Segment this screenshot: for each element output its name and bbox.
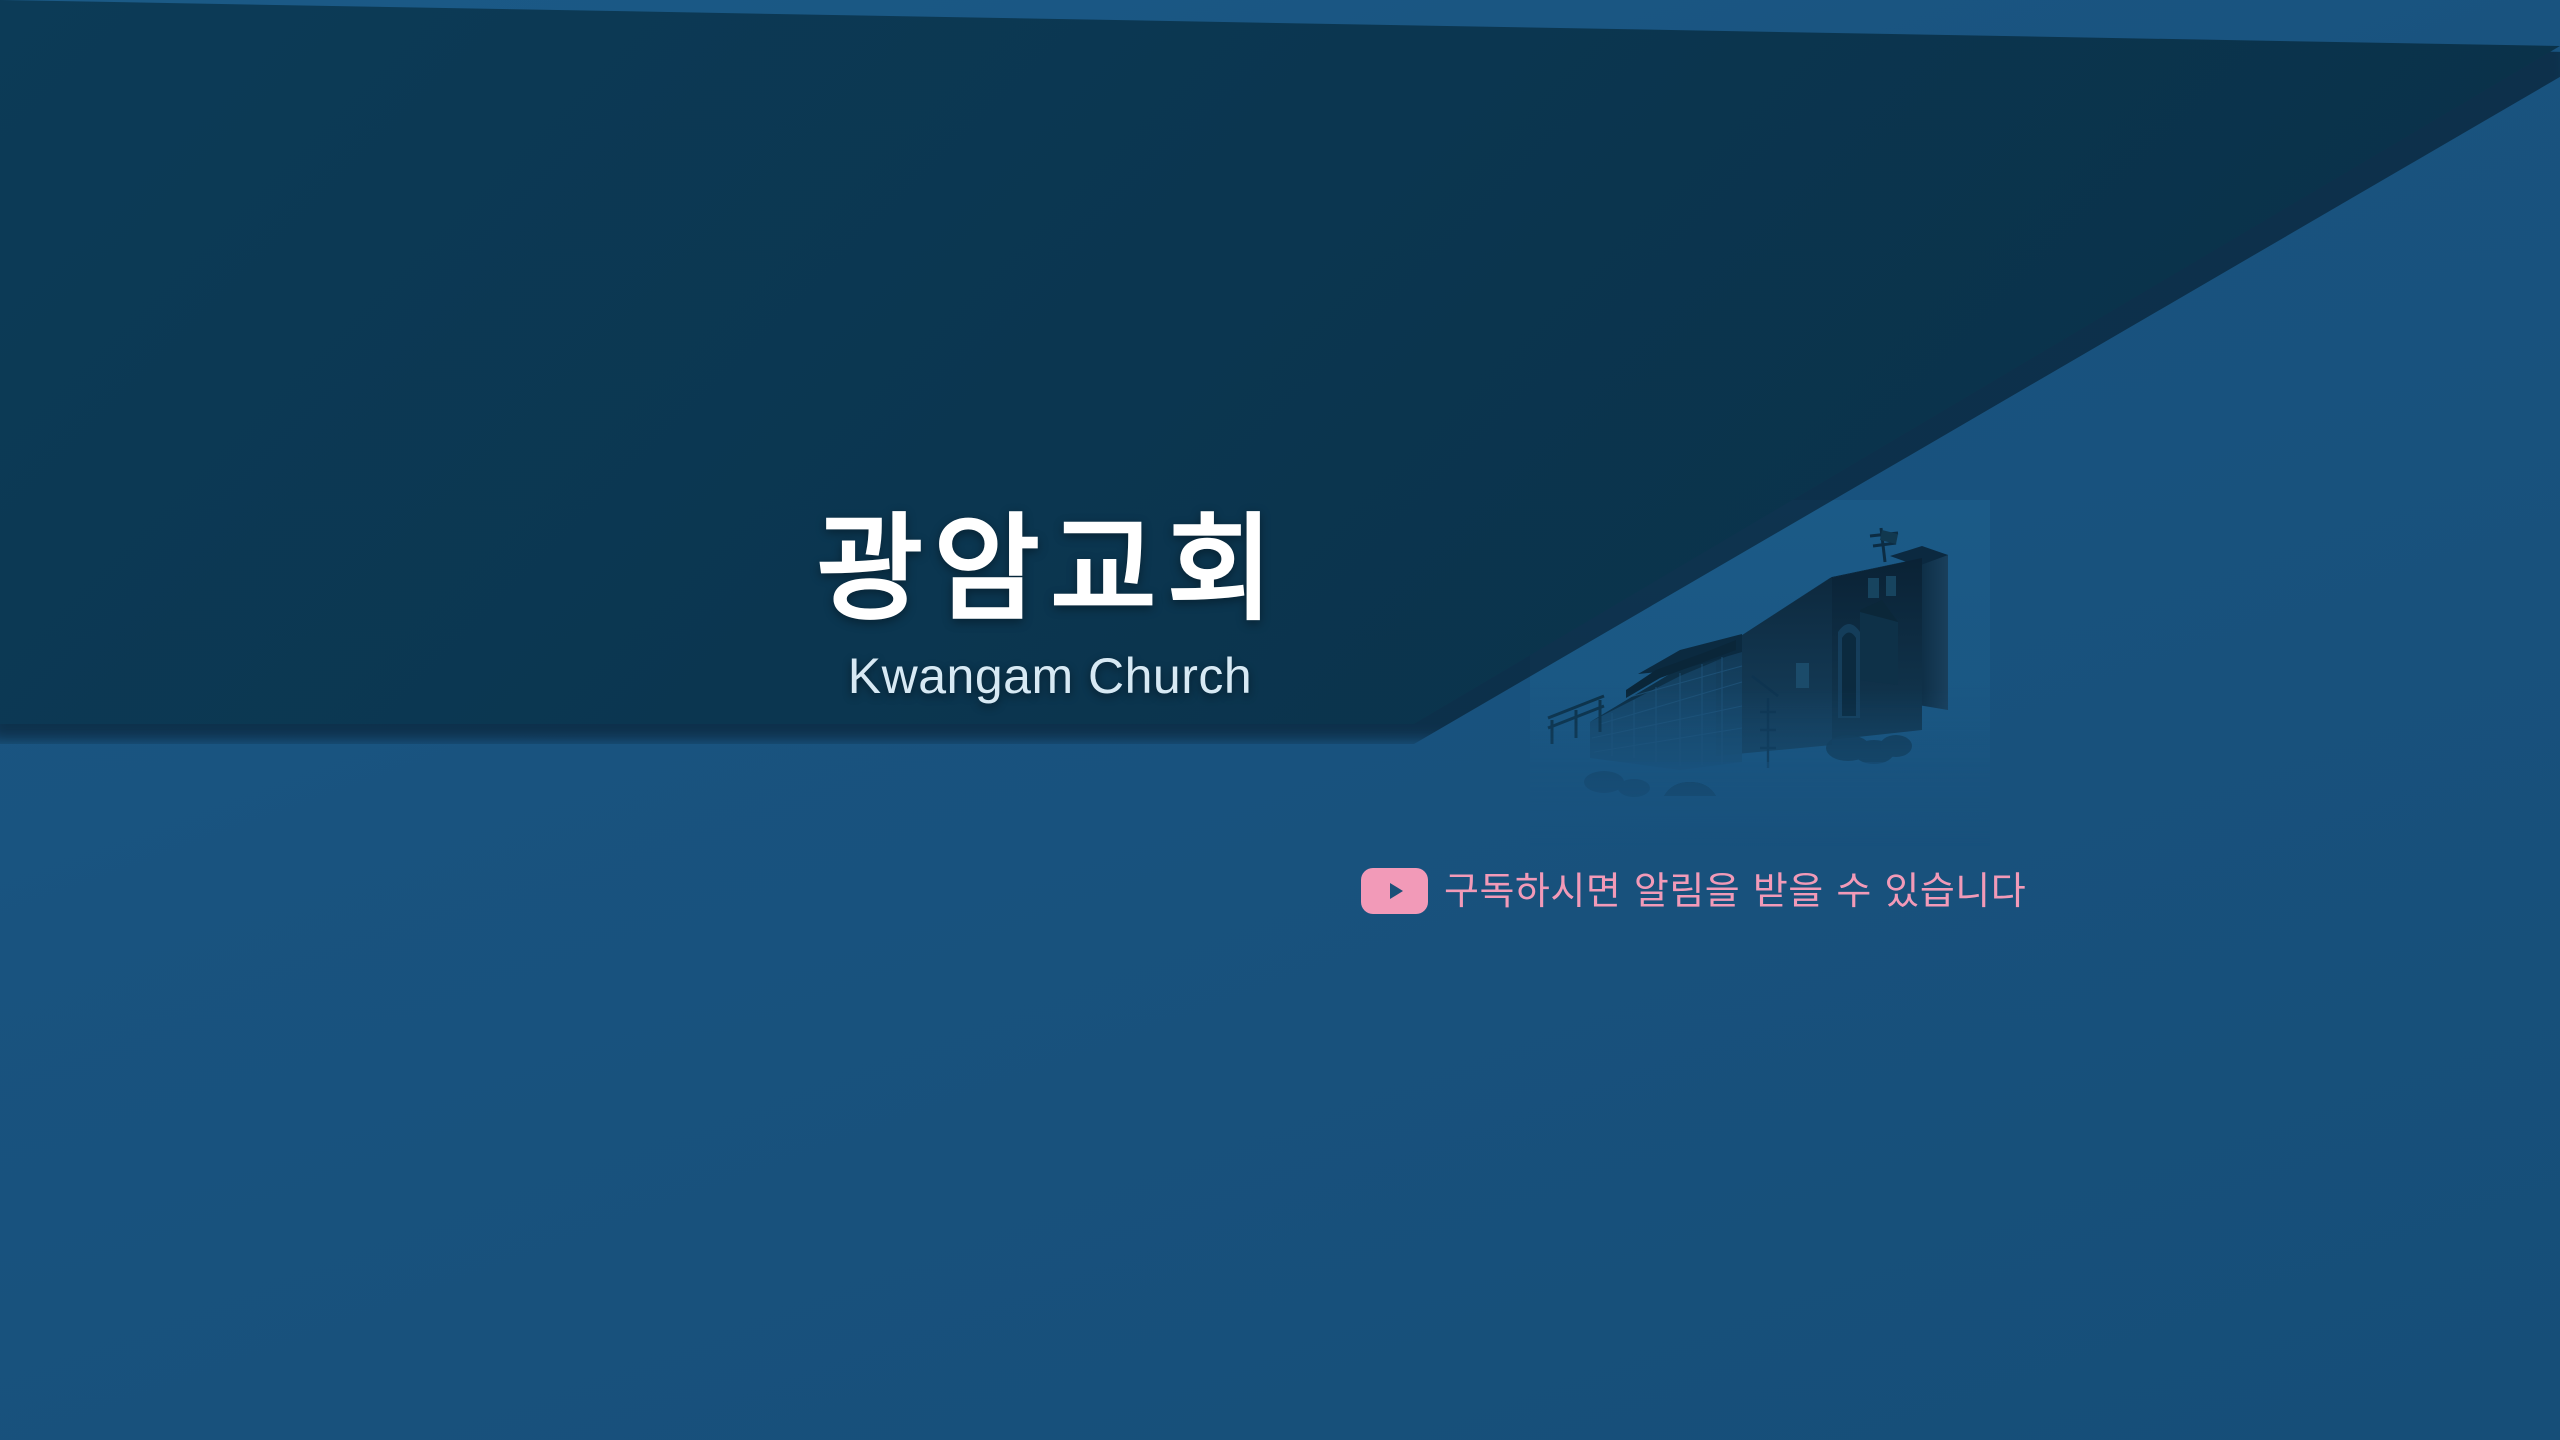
youtube-subscribe-cta[interactable]: 구독하시면 알림을 받을 수 있습니다 (1361, 868, 2026, 914)
subscribe-label: 구독하시면 알림을 받을 수 있습니다 (1444, 872, 2026, 910)
hero-banner: 광암교회 Kwangam Church 구독하시면 알림을 받을 수 있습니다 (0, 0, 2560, 1440)
youtube-play-icon[interactable] (1361, 868, 1428, 914)
play-triangle-icon (1382, 878, 1408, 904)
